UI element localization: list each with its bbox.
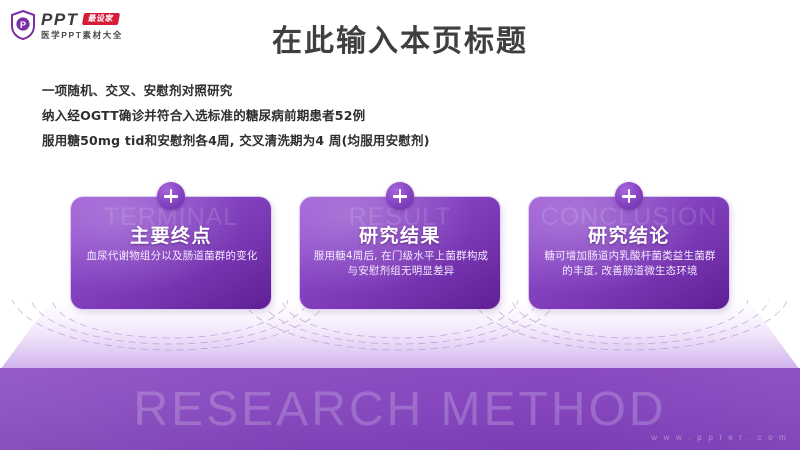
card-title: 主要终点 [71,221,271,248]
card-surface[interactable]: CONCLUSION 研究结论 糖可增加肠道内乳酸杆菌类益生菌群的丰度, 改善肠… [528,196,730,310]
intro-line: 服用糖50mg tid和安慰剂各4周, 交叉清洗期为4 周(均服用安慰剂) [42,128,602,153]
card-body-text: 糖可增加肠道内乳酸杆菌类益生菌群的丰度, 改善肠道微生态环境 [541,249,719,279]
card-surface[interactable]: RESULT 研究结果 服用糖4周后, 在门级水平上菌群构成与安慰剂组无明显差异 [299,196,501,310]
site-watermark: w w w . p p t e r . c o m [651,433,788,442]
card-body-text: 血尿代谢物组分以及肠道菌群的变化 [83,249,261,264]
intro-text-block: 一项随机、交叉、安慰剂对照研究 纳入经OGTT确诊并符合入选标准的糖尿病前期患者… [42,78,602,153]
card-body-text: 服用糖4周后, 在门级水平上菌群构成与安慰剂组无明显差异 [312,249,490,279]
info-card-conclusion[interactable]: CONCLUSION 研究结论 糖可增加肠道内乳酸杆菌类益生菌群的丰度, 改善肠… [528,196,730,310]
card-title: 研究结果 [300,221,500,248]
info-card-terminal[interactable]: TERMINAL 主要终点 血尿代谢物组分以及肠道菌群的变化 [70,196,272,310]
plus-icon[interactable] [386,182,414,210]
platform-heading: RESEARCH METHOD [0,382,800,437]
plus-icon[interactable] [157,182,185,210]
platform-3d: RESEARCH METHOD w w w . p p t e r . c o … [0,300,800,450]
intro-line: 纳入经OGTT确诊并符合入选标准的糖尿病前期患者52例 [42,103,602,128]
slide-canvas: P PPT 最设家 医学PPT素材大全 在此输入本页标题 一项随机、交叉、安慰剂… [0,0,800,450]
card-surface[interactable]: TERMINAL 主要终点 血尿代谢物组分以及肠道菌群的变化 [70,196,272,310]
card-title: 研究结论 [529,221,729,248]
platform-front-face: RESEARCH METHOD w w w . p p t e r . c o … [0,368,800,450]
info-card-result[interactable]: RESULT 研究结果 服用糖4周后, 在门级水平上菌群构成与安慰剂组无明显差异 [299,196,501,310]
plus-icon[interactable] [615,182,643,210]
page-title: 在此输入本页标题 [0,16,800,60]
intro-line: 一项随机、交叉、安慰剂对照研究 [42,78,602,103]
